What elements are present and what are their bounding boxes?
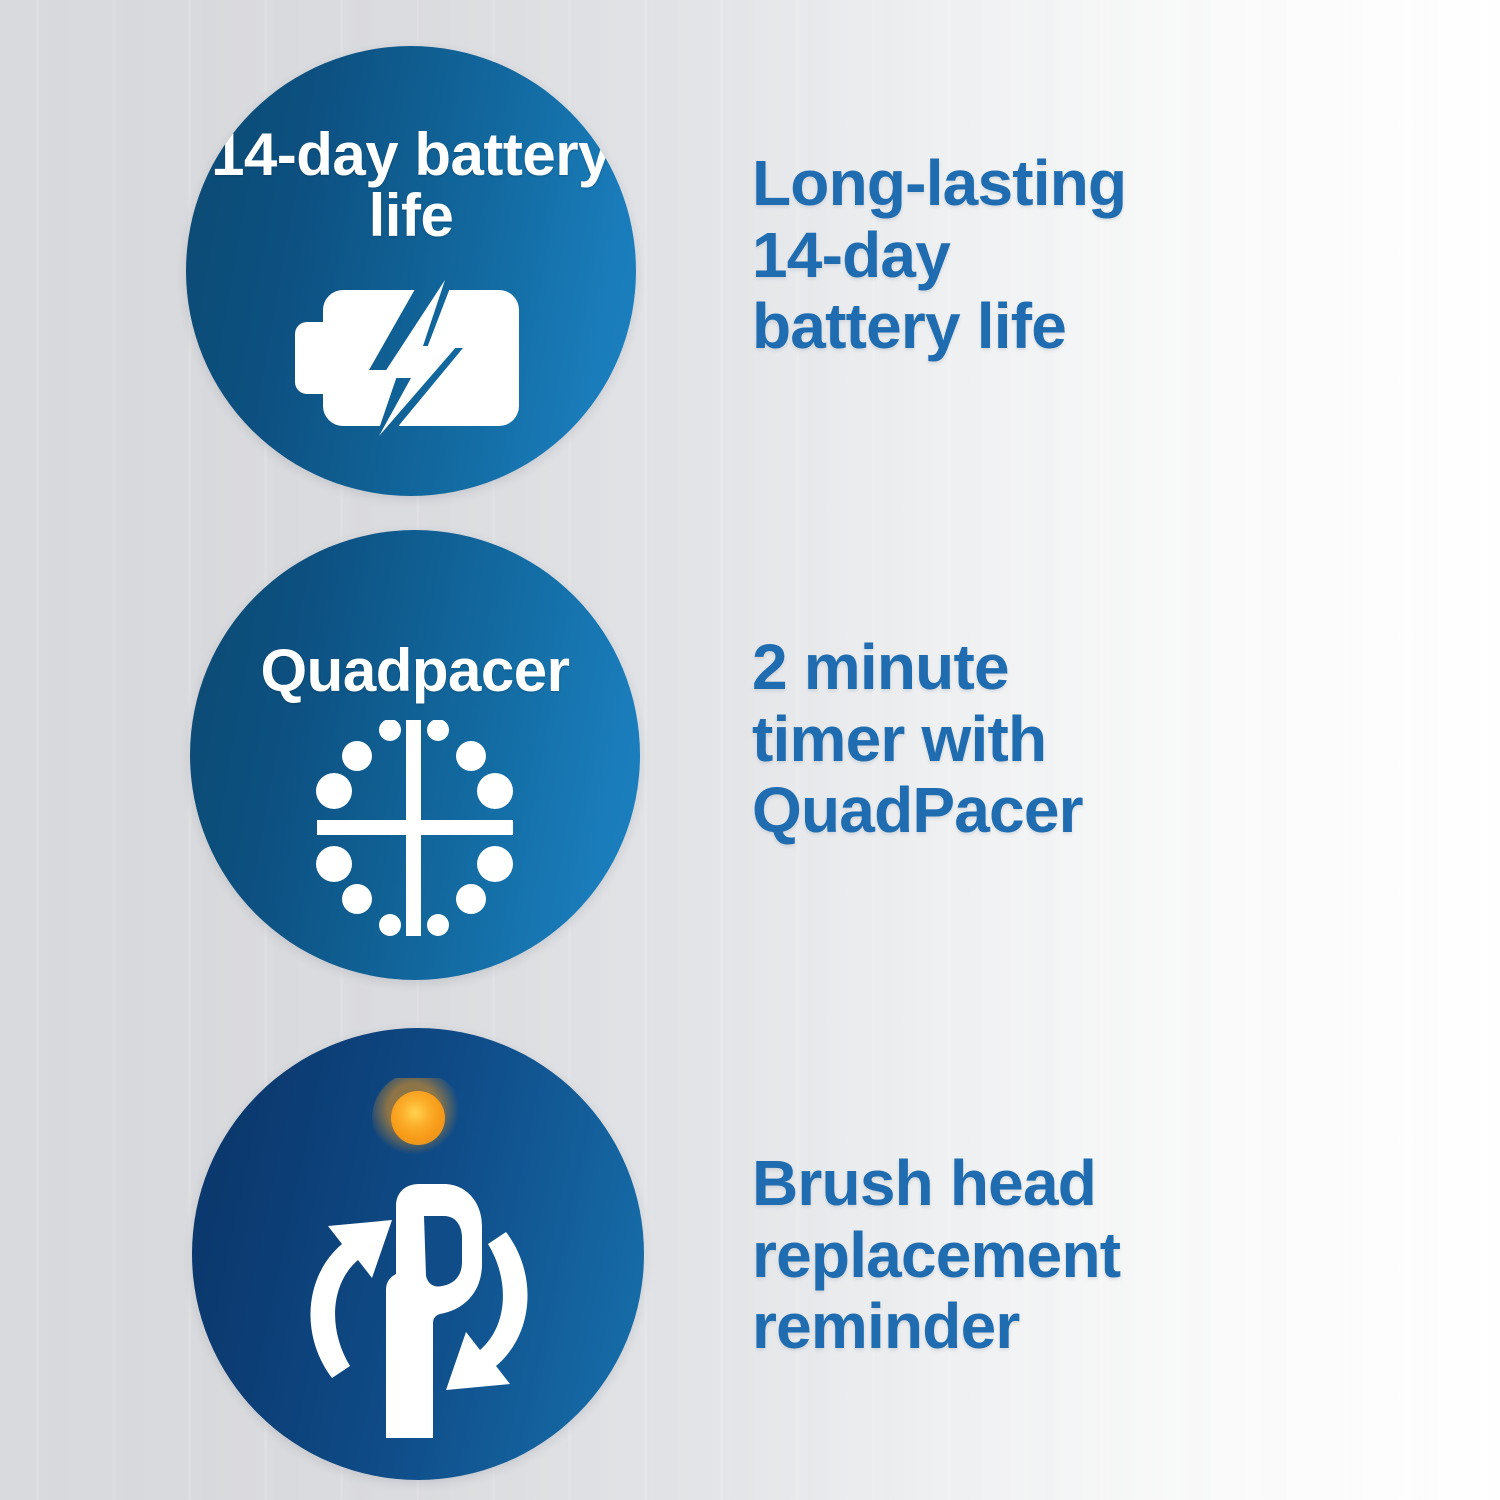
feature-badge-quadpacer: Quadpacer <box>190 530 640 980</box>
battery-charging-icon <box>295 274 527 447</box>
quadrant-timer-icon <box>305 720 525 941</box>
badge-label-battery: 14-day battery life <box>186 124 636 246</box>
badge-icon-wrapper-battery <box>186 274 636 447</box>
badge-icon-wrapper-brush-head <box>192 1078 644 1473</box>
brush-head-replacement-icon <box>268 1078 568 1473</box>
feature-caption-brush-head: Brush head replacement reminder <box>752 1148 1120 1363</box>
feature-caption-battery: Long-lasting 14-day battery life <box>752 148 1126 363</box>
badge-label-quadpacer: Quadpacer <box>190 640 640 701</box>
feature-badge-brush-head <box>192 1028 644 1480</box>
feature-badge-battery: 14-day battery life <box>186 46 636 496</box>
infographic-page: 14-day battery life <box>0 0 1500 1500</box>
feature-caption-quadpacer: 2 minute timer with QuadPacer <box>752 632 1083 847</box>
indicator-dot <box>391 1091 445 1145</box>
badge-icon-wrapper-quadpacer <box>190 720 640 941</box>
